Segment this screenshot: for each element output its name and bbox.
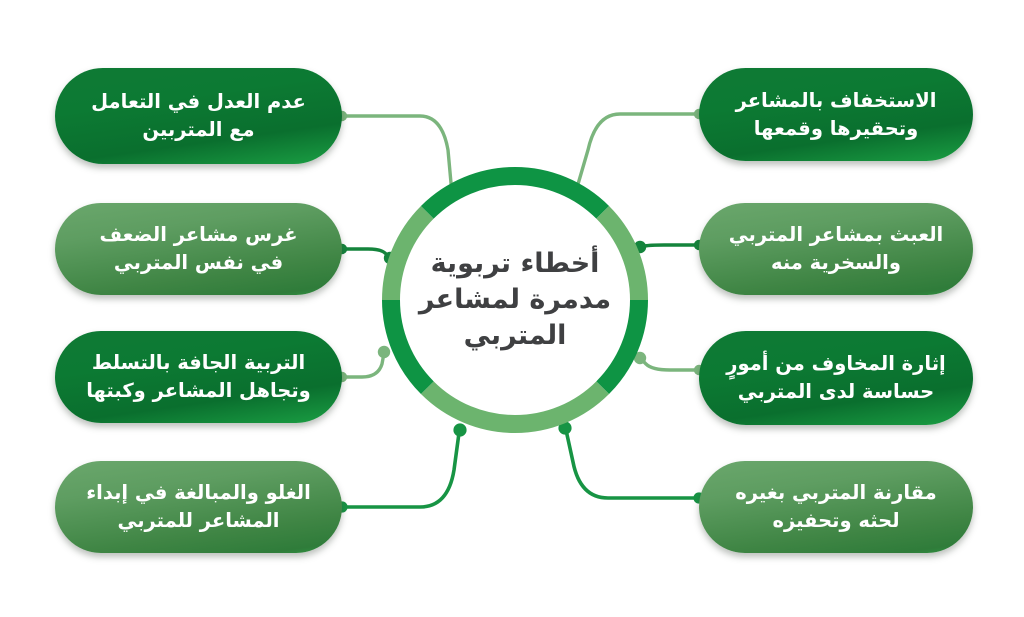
- node-right-1-label: الاستخفاف بالمشاعر وتحقيرها وقمعها: [725, 87, 947, 142]
- node-left-1[interactable]: عدم العدل في التعامل مع المتربين: [55, 68, 342, 164]
- node-right-3[interactable]: إثارة المخاوف من أمورٍ حساسة لدى المتربي: [699, 331, 973, 425]
- node-left-4[interactable]: الغلو والمبالغة في إبداء المشاعر للمتربي: [55, 461, 342, 553]
- hub-title: أخطاء تربوية مدمرة لمشاعر المتربي: [410, 217, 620, 383]
- node-right-3-label: إثارة المخاوف من أمورٍ حساسة لدى المتربي: [725, 350, 947, 405]
- node-left-4-label: الغلو والمبالغة في إبداء المشاعر للمتربي: [81, 479, 316, 534]
- node-right-2[interactable]: العبث بمشاعر المتربي والسخرية منه: [699, 203, 973, 295]
- node-right-4-label: مقارنة المتربي بغيره لحثه وتحفيزه: [725, 479, 947, 534]
- connector-left-4: [336, 423, 466, 512]
- node-left-2-label: غرس مشاعر الضعف في نفس المتربي: [81, 221, 316, 276]
- center-hub: أخطاء تربوية مدمرة لمشاعر المتربي: [382, 167, 648, 433]
- node-left-3[interactable]: التربية الجافة بالتسلط وتجاهل المشاعر وك…: [55, 331, 342, 423]
- node-right-2-label: العبث بمشاعر المتربي والسخرية منه: [725, 221, 947, 276]
- infographic-canvas: أخطاء تربوية مدمرة لمشاعر المتربي عدم ال…: [0, 0, 1024, 617]
- node-left-2[interactable]: غرس مشاعر الضعف في نفس المتربي: [55, 203, 342, 295]
- node-left-1-label: عدم العدل في التعامل مع المتربين: [81, 88, 316, 143]
- node-left-3-label: التربية الجافة بالتسلط وتجاهل المشاعر وك…: [81, 349, 316, 404]
- hub-title-line-2: مدمرة لمشاعر: [419, 282, 611, 318]
- node-right-4[interactable]: مقارنة المتربي بغيره لحثه وتحفيزه: [699, 461, 973, 553]
- node-right-1[interactable]: الاستخفاف بالمشاعر وتحقيرها وقمعها: [699, 68, 973, 161]
- hub-title-line-3: المتربي: [464, 318, 567, 354]
- connector-right-4: [558, 421, 704, 503]
- hub-title-line-1: أخطاء تربوية: [431, 246, 600, 282]
